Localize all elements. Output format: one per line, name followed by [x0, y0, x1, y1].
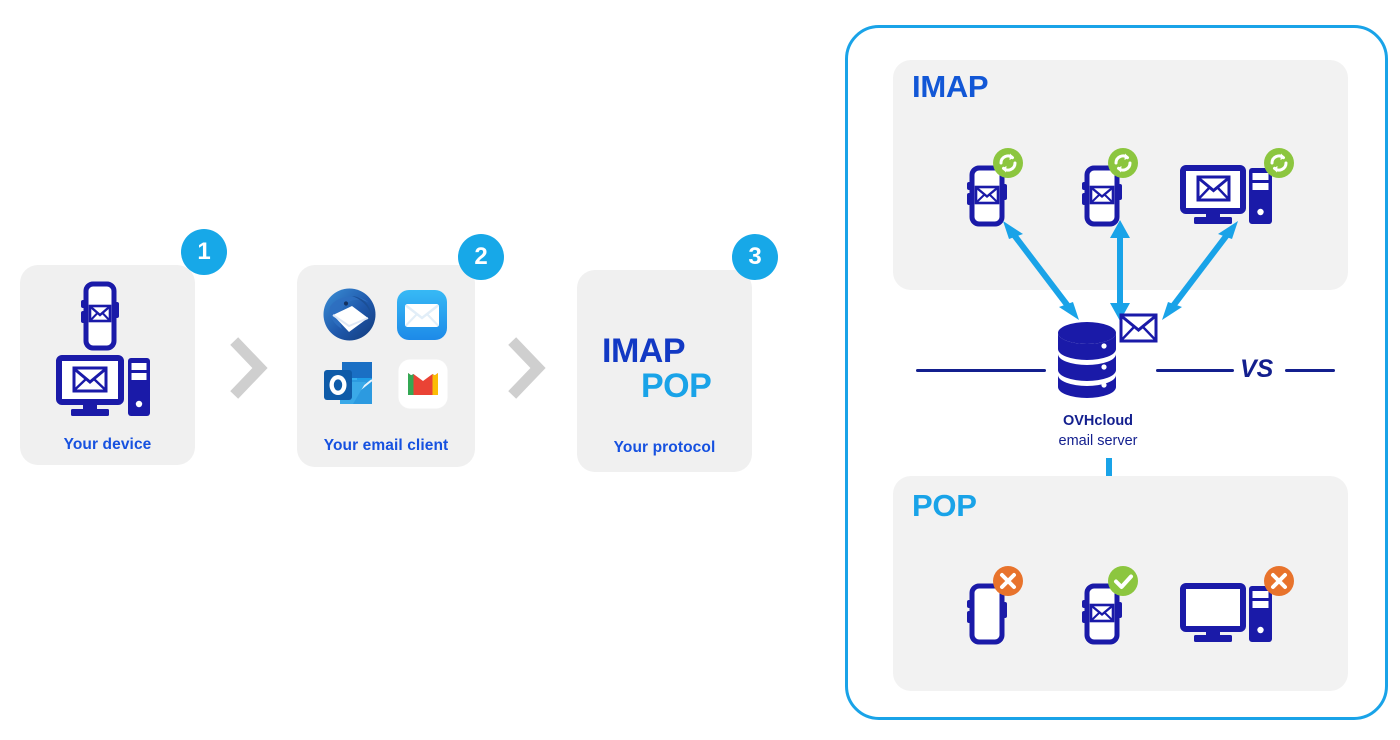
check-badge-icon: [1108, 566, 1138, 596]
cross-badge-icon: [993, 566, 1023, 596]
comparison-panel: IMAP: [845, 25, 1388, 720]
flow-label-protocol: Your protocol: [577, 439, 752, 457]
imap-section-label: IMAP: [912, 69, 988, 105]
protocol-pop-text: POP: [641, 367, 711, 406]
server-subtitle: email server: [998, 433, 1198, 449]
pop-device-phone-empty: [961, 564, 1023, 644]
apple-mail-icon: [396, 289, 448, 341]
desktop-mail-icon: [57, 356, 151, 418]
divider-line-left: [916, 369, 1046, 372]
pop-device-desktop-empty: [1181, 564, 1297, 644]
pop-section-label: POP: [912, 488, 977, 524]
flow-label-email-client: Your email client: [297, 437, 475, 455]
phone-mail-icon: [76, 282, 124, 350]
step-badge-1: 1: [181, 229, 227, 275]
protocol-imap-text: IMAP: [602, 332, 685, 371]
vs-label: VS: [1240, 355, 1273, 384]
thunderbird-icon: [322, 287, 377, 342]
server-name: OVHcloud: [998, 413, 1198, 429]
imap-device-desktop: [1181, 146, 1297, 226]
imap-device-phone-2: [1076, 146, 1138, 226]
sync-badge-icon: [1108, 148, 1138, 178]
flow-label-device: Your device: [20, 436, 195, 454]
outlook-icon: [322, 358, 378, 410]
divider-line-middle: [1156, 369, 1234, 372]
gmail-icon: [397, 358, 449, 410]
cross-badge-icon: [1264, 566, 1294, 596]
imap-device-phone-1: [961, 146, 1023, 226]
pop-device-phone-mail: [1076, 564, 1138, 644]
database-mail-icon: [1053, 315, 1158, 405]
chevron-right-icon-2: [510, 340, 546, 396]
sync-badge-icon: [993, 148, 1023, 178]
divider-line-right: [1285, 369, 1335, 372]
sync-badge-icon: [1264, 148, 1294, 178]
chevron-right-icon: [232, 340, 268, 396]
step-badge-2: 2: [458, 234, 504, 280]
step-badge-3: 3: [732, 234, 778, 280]
